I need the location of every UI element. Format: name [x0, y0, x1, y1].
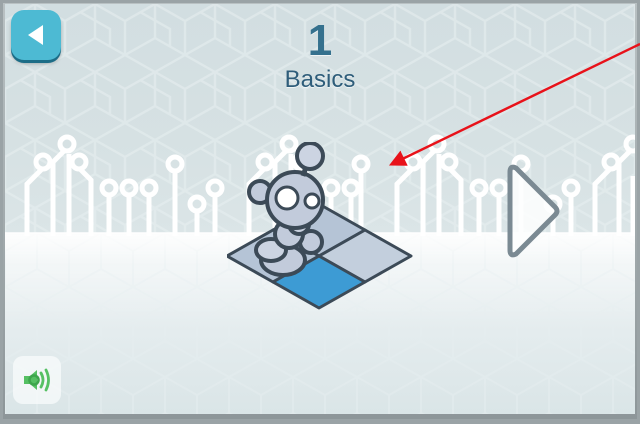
back-triangle-icon [24, 23, 48, 47]
page-title: 1 [5, 17, 635, 65]
next-level-button[interactable] [500, 162, 562, 260]
speaker-on-icon [22, 367, 52, 393]
sound-toggle-button[interactable] [13, 356, 61, 404]
game-stage: 1 Basics [5, 4, 635, 414]
level-name-label: Basics [5, 66, 635, 94]
isometric-grid [227, 204, 411, 308]
back-button[interactable] [11, 10, 61, 60]
level-preview-scene[interactable] [227, 142, 432, 317]
next-triangle-icon [510, 167, 557, 255]
game-window: 1 Basics [0, 0, 640, 424]
